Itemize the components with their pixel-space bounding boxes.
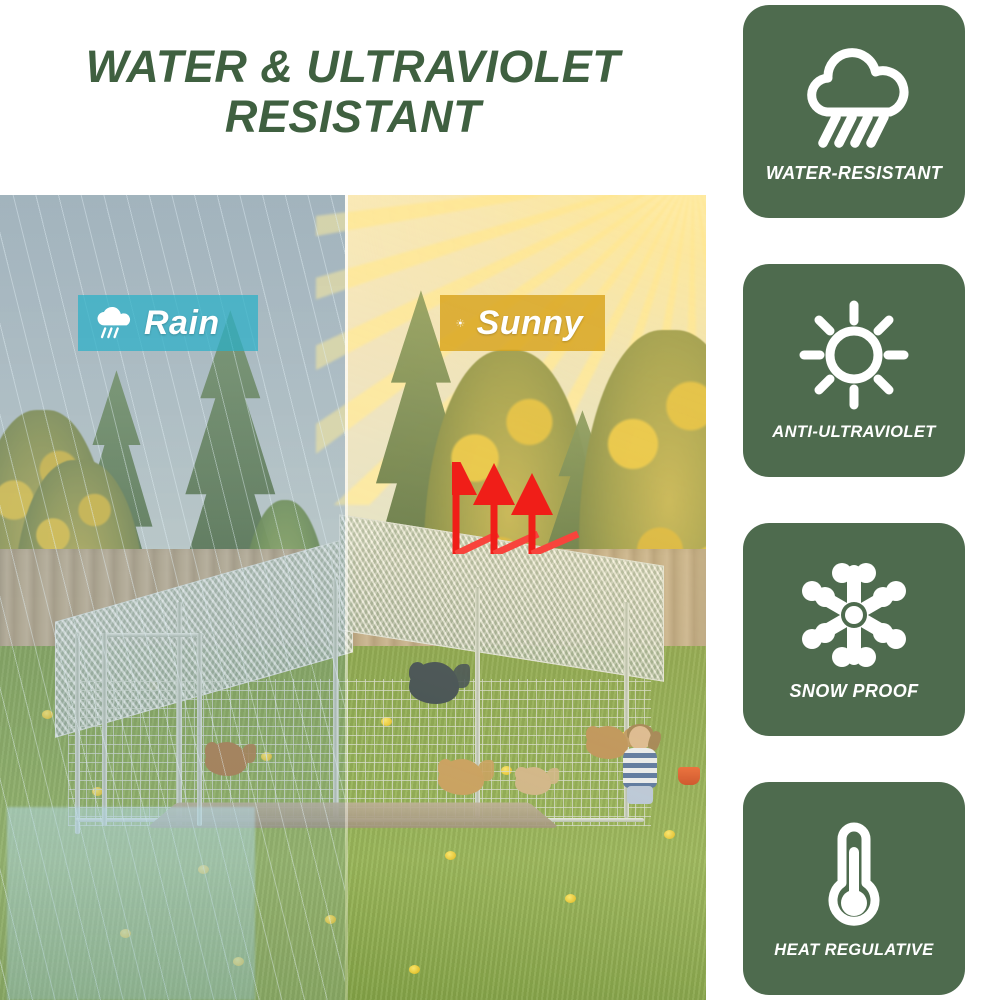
rain-cloud-icon [794,39,914,157]
sun-icon [794,299,914,417]
weather-badge-sunny: Sunny [440,295,605,351]
feature-card-heat-regulative[interactable]: HEAT REGULATIVE [743,782,965,995]
weather-badge-rain-label: Rain [144,304,220,343]
rain-cloud-icon [94,305,132,341]
page-title-line-1: WATER & ULTRAVIOLET [86,41,620,92]
coop-post [75,633,80,834]
feature-card-anti-ultraviolet[interactable]: ANTI-ULTRAVIOLET [743,264,965,477]
weather-badge-sunny-label: Sunny [477,304,583,343]
weather-badge-rain: Rain [78,295,258,351]
chicken [586,726,628,759]
thermometer-icon [794,817,914,935]
feature-card-water-resistant[interactable]: WATER-RESISTANT [743,5,965,218]
page-title: WATER & ULTRAVIOLET RESISTANT [0,42,706,143]
feature-card-label: ANTI-ULTRAVIOLET [772,423,935,442]
feature-card-label: WATER-RESISTANT [766,163,942,184]
coop-post [333,579,338,819]
coop-door-frame [102,633,204,637]
chicken-coop-structure [14,517,692,903]
coop-ground-bed [147,803,559,829]
uv-reflection-arrows [452,462,582,554]
coop-door-frame [197,633,202,826]
chicken [438,759,484,795]
feature-card-label: SNOW PROOF [790,681,919,702]
chicken [205,742,247,776]
feature-card-snow-proof[interactable]: SNOW PROOF [743,523,965,736]
coop-door-frame [102,633,107,826]
feature-card-list: WATER-RESISTANT ANTI-ULTRAVIOLET [743,5,965,995]
sun-icon [456,306,465,340]
snowflake-icon [794,557,914,675]
feed-bucket [678,767,700,785]
page-title-line-2: RESISTANT [0,92,706,142]
feature-card-label: HEAT REGULATIVE [774,941,933,960]
page-root: WATER & ULTRAVIOLET RESISTANT [0,0,1000,1000]
